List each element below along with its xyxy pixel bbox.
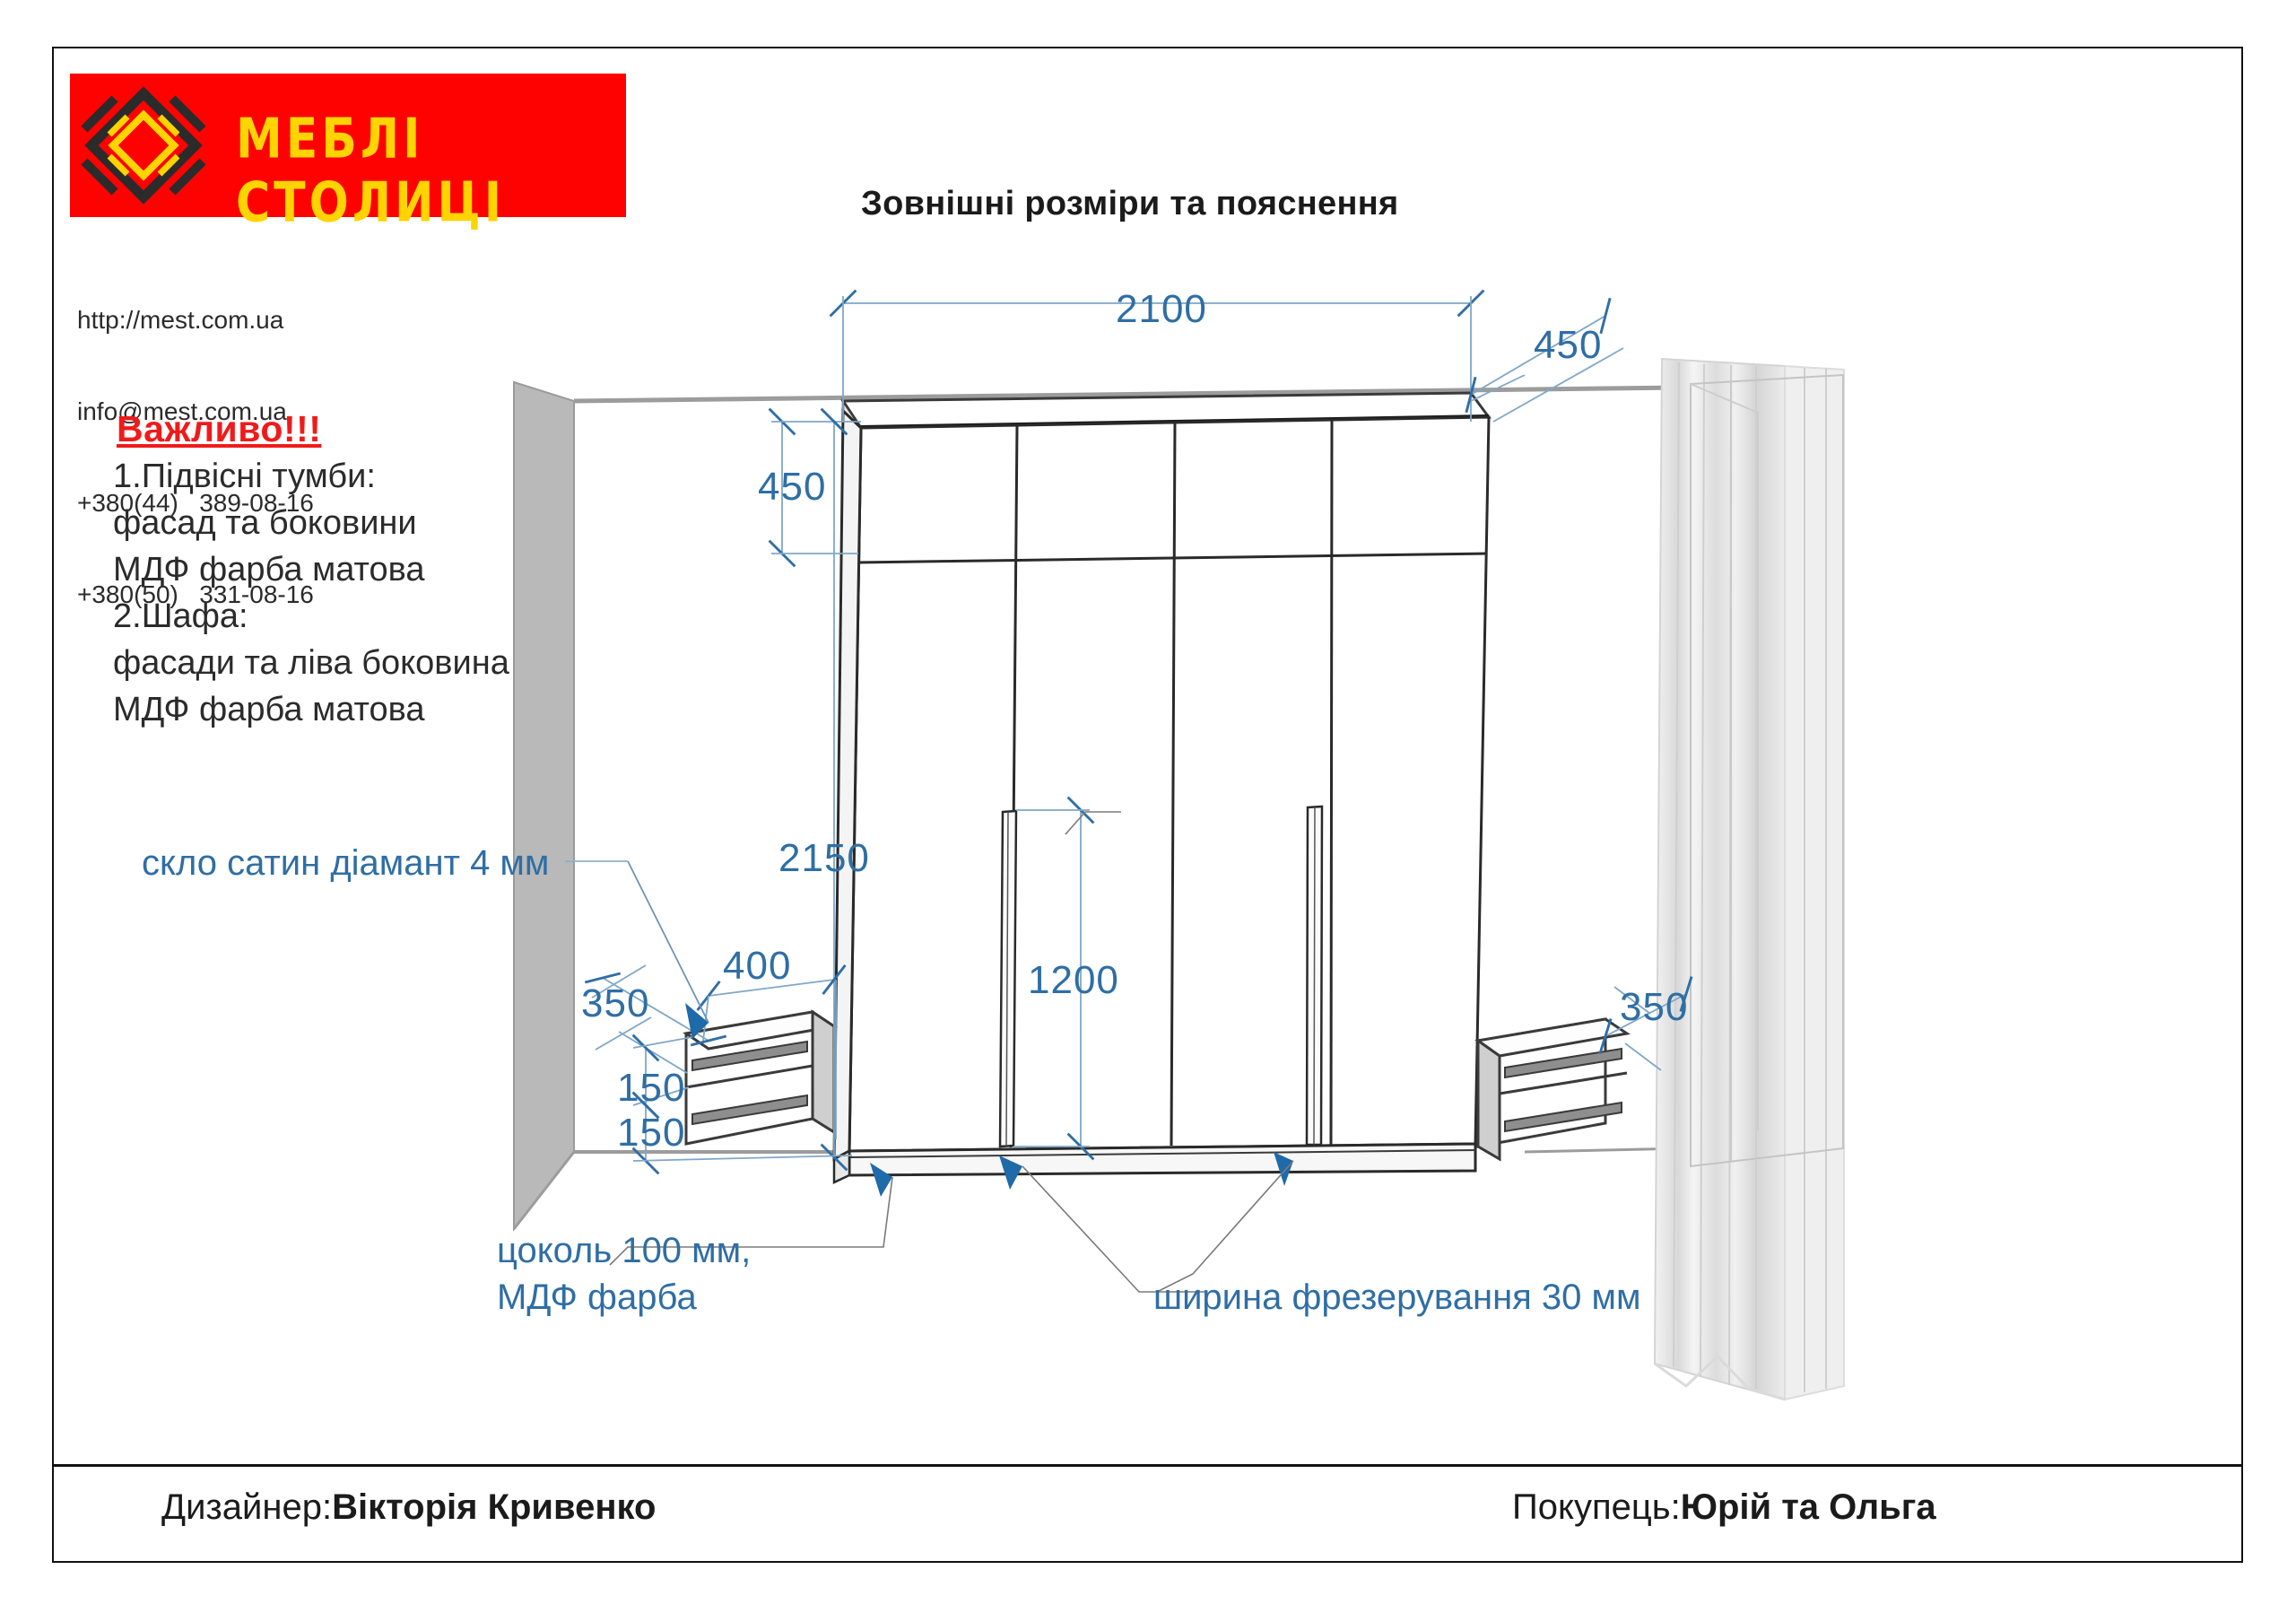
dim-drawer-upper: 150 [617, 1066, 685, 1111]
room-left-wall [514, 382, 574, 1229]
buyer-credit: Покупець:Юрій та Ольга [1512, 1487, 1936, 1528]
dim-cabinet-height: 2150 [778, 836, 870, 881]
designer-credit: Дизайнер:Вікторія Кривенко [161, 1487, 656, 1528]
dim-top-depth: 450 [1534, 323, 1602, 368]
dim-nightstand-width: 400 [723, 944, 791, 989]
buyer-name: Юрій та Ольга [1681, 1487, 1936, 1527]
window-curtain [1655, 359, 1844, 1400]
annotation-plinth-line2: МДФ фарба [497, 1278, 697, 1318]
dim-total-width: 2100 [1116, 287, 1207, 332]
dim-nightstand-depth-right: 350 [1620, 985, 1688, 1030]
designer-name: Вікторія Кривенко [332, 1487, 656, 1527]
technical-drawing [0, 0, 2296, 1622]
wardrobe [834, 393, 1489, 1182]
dim-upper-section: 450 [758, 465, 826, 510]
designer-label: Дизайнер: [161, 1487, 332, 1527]
nightstand-left [686, 1012, 834, 1144]
annotation-glass: скло сатин діамант 4 мм [142, 843, 549, 884]
buyer-label: Покупець: [1512, 1487, 1681, 1527]
dim-nightstand-depth-left: 350 [581, 981, 649, 1026]
dim-handle-height: 1200 [1028, 958, 1119, 1003]
nightstand-right [1478, 1019, 1627, 1159]
annotation-plinth-line1: цоколь 100 мм, [497, 1231, 751, 1271]
annotation-milling: ширина фрезерування 30 мм [1153, 1278, 1641, 1318]
dim-drawer-lower: 150 [617, 1111, 685, 1155]
